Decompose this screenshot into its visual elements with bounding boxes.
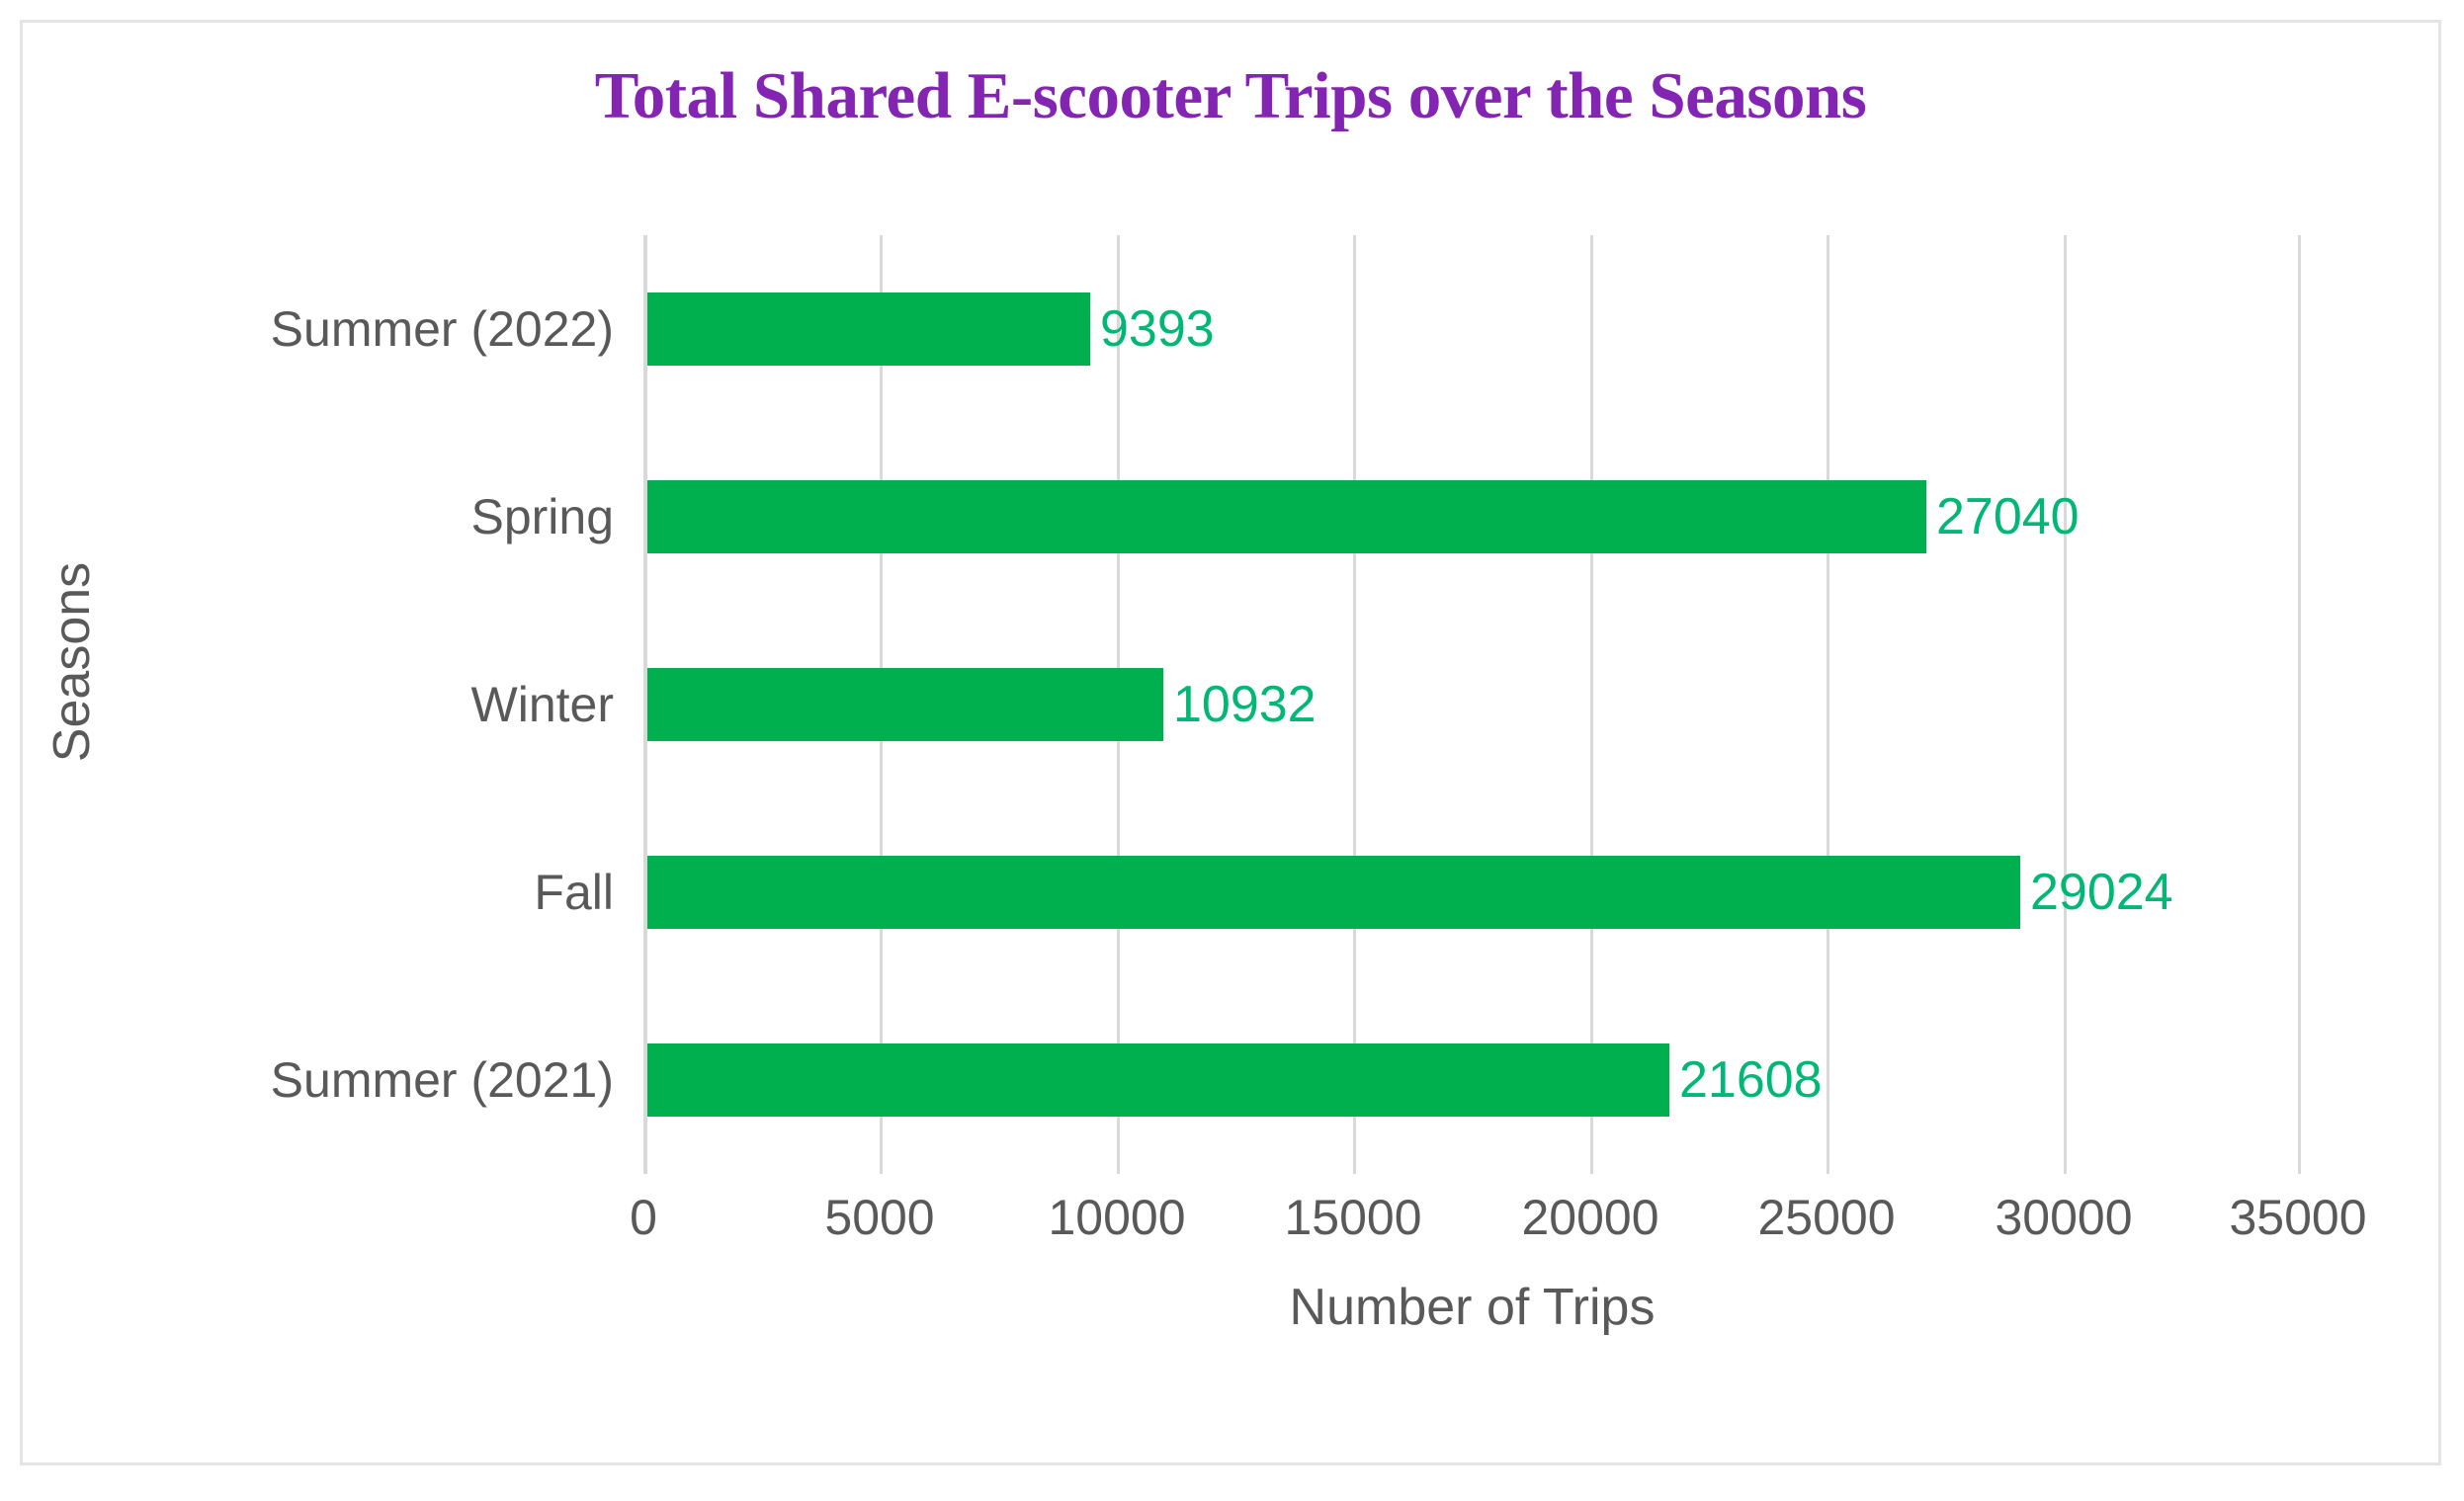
tick-label-25000: 25000	[1757, 1189, 1895, 1246]
value-axis-line	[643, 235, 647, 1174]
category-label-winter: Winter	[120, 611, 614, 798]
category-axis-title: Seasons	[42, 484, 102, 840]
tick-label-10000: 10000	[1048, 1189, 1185, 1246]
tick-label-30000: 30000	[1995, 1189, 2132, 1246]
tick-label-5000: 5000	[824, 1189, 934, 1246]
tick-label-0: 0	[630, 1189, 657, 1246]
bar-spring[interactable]	[645, 480, 1926, 553]
chart-figure: Total Shared E-scooter Trips over the Se…	[20, 20, 2441, 1465]
bar-value-label-winter: 10932	[1163, 668, 1317, 741]
value-axis-title: Number of Trips	[643, 1278, 2301, 1337]
bar-row-spring: 27040	[643, 423, 2301, 611]
bar-summer-2021[interactable]	[645, 1043, 1669, 1117]
chart-title: Total Shared E-scooter Trips over the Se…	[23, 58, 2438, 134]
bar-fall[interactable]	[645, 856, 2020, 929]
bar-value-label-spring: 27040	[1926, 480, 2080, 553]
tick-label-15000: 15000	[1284, 1189, 1421, 1246]
category-label-fall: Fall	[120, 798, 614, 986]
bar-summer-2022[interactable]	[645, 292, 1090, 366]
plot-area: 9393 27040 10932 29024 21608	[643, 235, 2301, 1174]
bar-value-label-summer-2022: 9393	[1090, 292, 1215, 366]
tick-label-20000: 20000	[1521, 1189, 1658, 1246]
bar-row-fall: 29024	[643, 798, 2301, 986]
category-label-summer-2022: Summer (2022)	[120, 235, 614, 423]
bar-row-summer-2021: 21608	[643, 986, 2301, 1174]
value-axis-tick-labels: 0 5000 10000 15000 20000 25000 30000 350…	[643, 1189, 2301, 1258]
category-label-spring: Spring	[120, 423, 614, 611]
bar-winter[interactable]	[645, 668, 1163, 741]
bar-value-label-fall: 29024	[2020, 856, 2173, 929]
bar-row-summer-2022: 9393	[643, 235, 2301, 423]
bar-value-label-summer-2021: 21608	[1669, 1043, 1823, 1117]
bar-row-winter: 10932	[643, 611, 2301, 798]
category-label-summer-2021: Summer (2021)	[120, 986, 614, 1174]
category-axis-labels: Summer (2022) Spring Winter Fall Summer …	[120, 235, 614, 1174]
tick-label-35000: 35000	[2229, 1189, 2366, 1246]
